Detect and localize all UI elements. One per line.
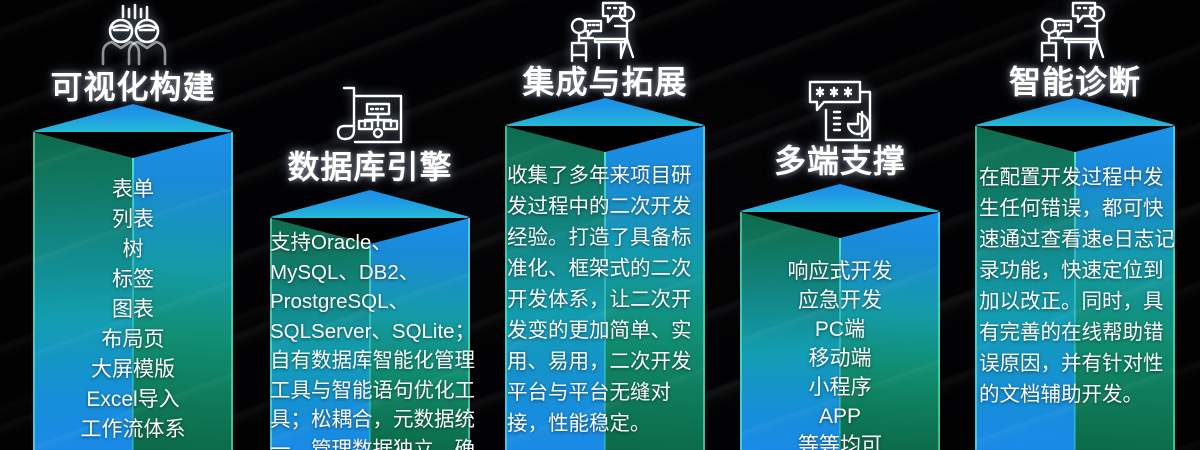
pillar-title: 多端支撑 xyxy=(774,136,906,182)
pillar-body-text: 响应式开发 应急开发 PC端 移动端 小程序 APP 等等均可 xyxy=(744,257,936,450)
pillar-body-text: 收集了多年来项目研发过程中的二次开发经验。打造了具备标准化、框架式的二次开发体系… xyxy=(507,160,709,439)
database-diagram-icon xyxy=(325,84,415,148)
report-chat-icon xyxy=(797,78,883,144)
pillar-title: 集成与拓展 xyxy=(522,57,687,103)
pillar-title: 可视化构建 xyxy=(50,62,215,108)
infographic-canvas: 可视化构建 表单 列表 树 标签 图表 布局页 大屏模版 Excel导入 工作流… xyxy=(0,0,1200,450)
pillar-body-text: 支持Oracle、MySQL、DB2、ProstgreSQL、SQLServer… xyxy=(270,228,478,450)
pillar-title: 数据库引擎 xyxy=(287,142,452,188)
pillar-title: 智能诊断 xyxy=(1009,57,1141,103)
pillar-body-text: 在配置开发过程中发生任何错误，都可快速通过查看速e日志记录功能，快速定位到加以改… xyxy=(979,162,1177,410)
pillar-body-text: 表单 列表 树 标签 图表 布局页 大屏模版 Excel导入 工作流体系 xyxy=(37,175,229,445)
